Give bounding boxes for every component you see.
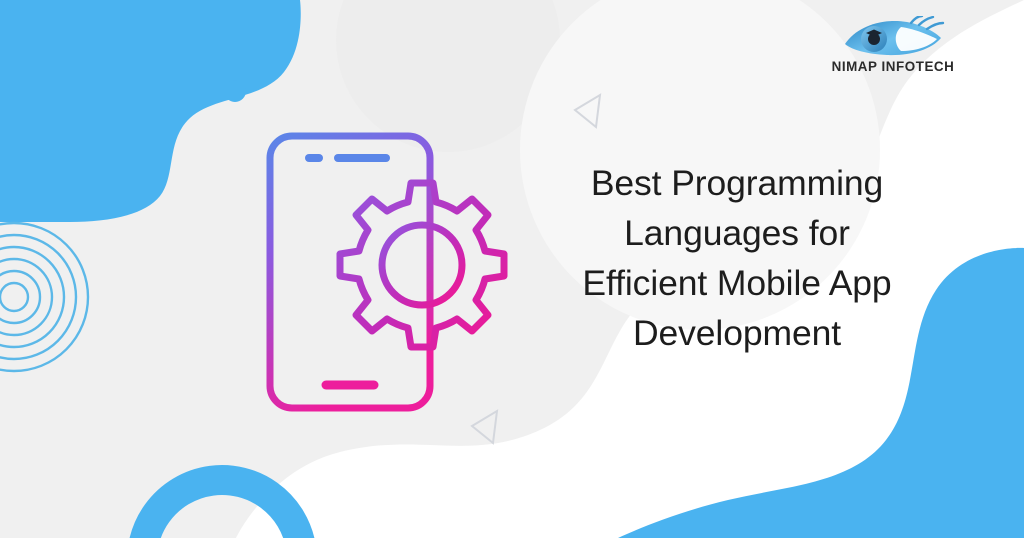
blue-blob-top-left — [0, 0, 301, 222]
banner-graphic: NIMAP INFOTECH Best Programming Language… — [0, 0, 1024, 538]
page-title-line-3: Efficient Mobile App — [582, 263, 891, 303]
blue-donut-bottom-left — [125, 463, 319, 538]
page-title: Best Programming Languages for Efficient… — [534, 158, 940, 358]
concentric-rings-left — [0, 223, 88, 371]
logo-wordmark: NIMAP INFOTECH — [818, 59, 968, 74]
page-title-line-2: Languages for — [624, 213, 850, 253]
brand-logo: NIMAP INFOTECH — [818, 16, 968, 82]
eye-logo-icon — [839, 16, 947, 58]
blue-dot-top — [224, 80, 246, 102]
triangle-outline-upper — [575, 95, 600, 127]
page-title-line-1: Best Programming — [591, 163, 883, 203]
page-title-line-4: Development — [633, 313, 841, 353]
gear-icon — [340, 183, 504, 347]
mobile-app-development-icon — [262, 128, 532, 418]
